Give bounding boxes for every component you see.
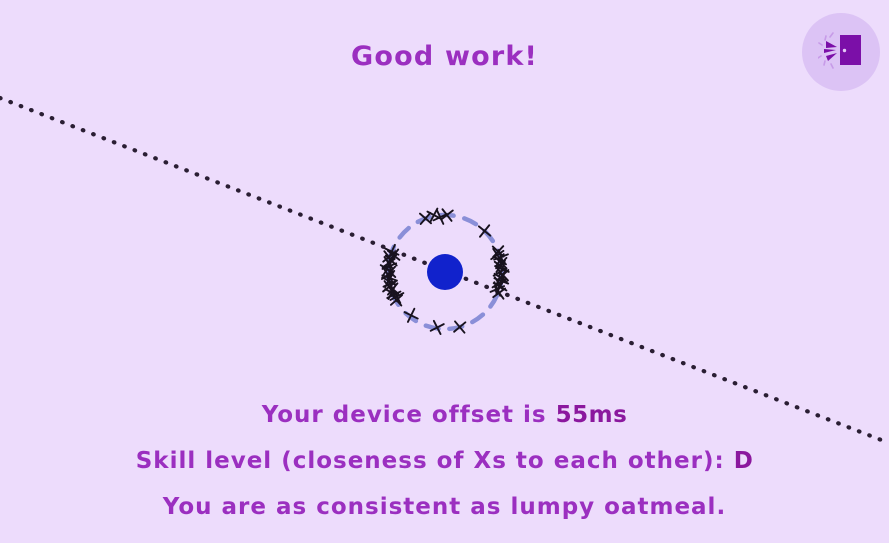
dial-center-dot <box>427 254 463 290</box>
skill-grade-value: D <box>734 448 754 474</box>
tap-offset-dial <box>370 197 520 347</box>
skill-result-line: Skill level (closeness of Xs to each oth… <box>0 438 889 484</box>
calibration-result-screen: Good work! <box>0 0 889 543</box>
page-title: Good work! <box>0 41 889 72</box>
tap-mark <box>479 225 490 236</box>
result-text-block: Your device offset is 55ms Skill level (… <box>0 392 889 530</box>
quip-line: You are as consistent as lumpy oatmeal. <box>0 484 889 530</box>
exit-door-icon <box>818 31 864 73</box>
offset-value: 55ms <box>556 402 628 428</box>
exit-button[interactable] <box>802 13 880 91</box>
offset-label: Your device offset is <box>262 402 556 428</box>
skill-label: Skill level (closeness of Xs to each oth… <box>136 448 734 474</box>
offset-result-line: Your device offset is 55ms <box>0 392 889 438</box>
